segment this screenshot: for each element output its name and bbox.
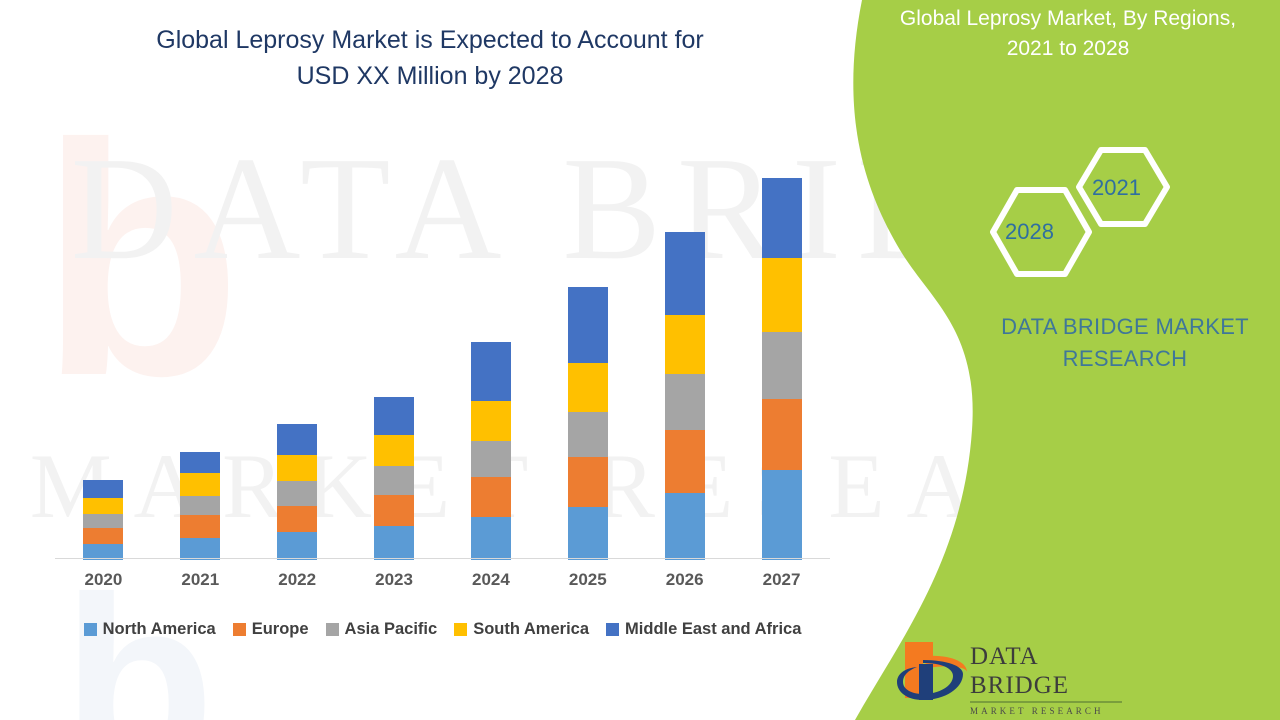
bar-segment [180, 538, 220, 560]
legend-label: North America [103, 620, 216, 639]
bar-segment [180, 496, 220, 515]
bar-column [762, 178, 802, 560]
panel-brand-line-1: DATA BRIDGE MARKET [965, 311, 1280, 343]
bar-segment [471, 477, 511, 517]
bar-segment [180, 473, 220, 495]
chart-title-line-2: USD XX Million by 2028 [80, 58, 780, 94]
legend-item[interactable]: North America [84, 620, 216, 639]
bar-segment [83, 528, 123, 543]
panel-brand-line-2: RESEARCH [965, 343, 1280, 375]
hexagon-2021-label: 2021 [1092, 175, 1141, 201]
bar-segment [83, 514, 123, 528]
bar-segment [471, 441, 511, 478]
bar-segment [568, 363, 608, 412]
bar-segment [374, 526, 414, 560]
bar-segment [665, 374, 705, 430]
legend-swatch-icon [454, 623, 467, 636]
bar-segment [374, 435, 414, 466]
bar-segment [665, 232, 705, 315]
bar-segment [762, 332, 802, 398]
bar-segment [568, 457, 608, 507]
legend-label: Asia Pacific [345, 620, 438, 639]
bar-segment [471, 401, 511, 441]
chart-title-line-1: Global Leprosy Market is Expected to Acc… [80, 22, 780, 58]
x-axis-label: 2026 [645, 570, 725, 590]
bar-segment [374, 495, 414, 527]
x-axis-label: 2024 [451, 570, 531, 590]
bar-segment [277, 532, 317, 560]
bar-segment [471, 517, 511, 560]
data-bridge-logo: DATA BRIDGE MARKET RESEARCH [893, 638, 1113, 708]
logo-subtitle: MARKET RESEARCH [970, 706, 1130, 716]
bar-segment [762, 258, 802, 333]
bar-segment [277, 455, 317, 482]
chart-title: Global Leprosy Market is Expected to Acc… [80, 22, 780, 94]
bar-segment [762, 470, 802, 560]
bar-segment [277, 424, 317, 455]
bar-segment [83, 498, 123, 514]
bar-segment [277, 481, 317, 506]
x-axis-label: 2025 [548, 570, 628, 590]
x-axis-label: 2023 [354, 570, 434, 590]
bar-segment [471, 342, 511, 400]
bar-segment [277, 506, 317, 533]
bar-segment [665, 493, 705, 560]
x-axis-label: 2020 [63, 570, 143, 590]
chart-plot-area [55, 100, 830, 560]
bar-column [471, 342, 511, 560]
bar-segment [180, 452, 220, 473]
bar-column [374, 397, 414, 560]
x-axis-label: 2021 [160, 570, 240, 590]
bar-column [180, 452, 220, 560]
x-axis-label: 2027 [742, 570, 822, 590]
bar-segment [568, 287, 608, 363]
bar-segment [180, 515, 220, 537]
legend-swatch-icon [326, 623, 339, 636]
panel-brand-text: DATA BRIDGE MARKET RESEARCH [965, 311, 1280, 375]
logo-mark-icon [893, 638, 971, 704]
bar-column [665, 232, 705, 560]
bar-segment [568, 507, 608, 560]
logo-title: DATA BRIDGE [970, 642, 1130, 700]
chart-legend: North AmericaEuropeAsia PacificSouth Ame… [55, 616, 830, 642]
legend-swatch-icon [606, 623, 619, 636]
legend-item[interactable]: Asia Pacific [326, 620, 438, 639]
hexagon-2028-label: 2028 [1005, 219, 1054, 245]
bar-segment [665, 430, 705, 492]
slide-canvas: b b DATA BRIDGE MARKET RESEARCH Global L… [0, 0, 1280, 720]
bar-column [568, 287, 608, 560]
legend-item[interactable]: Middle East and Africa [606, 620, 801, 639]
panel-title: Global Leprosy Market, By Regions, 2021 … [868, 4, 1268, 64]
logo-text-block: DATA BRIDGE MARKET RESEARCH [970, 642, 1130, 716]
panel-title-line-1: Global Leprosy Market, By Regions, [868, 4, 1268, 34]
legend-label: Middle East and Africa [625, 620, 801, 639]
hexagon-badges: 2021 2028 [975, 145, 1195, 285]
bar-column [83, 480, 123, 560]
legend-item[interactable]: Europe [233, 620, 309, 639]
chart-baseline-axis [55, 558, 830, 559]
x-axis-label: 2022 [257, 570, 337, 590]
legend-label: South America [473, 620, 589, 639]
panel-title-line-2: 2021 to 2028 [868, 34, 1268, 64]
bar-segment [762, 399, 802, 471]
bar-segment [374, 397, 414, 436]
hexagon-outlines [975, 145, 1195, 285]
chart-x-axis-labels: 20202021202220232024202520262027 [55, 566, 830, 596]
bar-segment [665, 315, 705, 374]
legend-swatch-icon [84, 623, 97, 636]
bar-segment [83, 480, 123, 497]
bar-segment [568, 412, 608, 457]
logo-divider [970, 701, 1122, 703]
bar-segment [762, 178, 802, 258]
bar-column [277, 424, 317, 560]
legend-swatch-icon [233, 623, 246, 636]
legend-item[interactable]: South America [454, 620, 589, 639]
bar-segment [374, 466, 414, 495]
legend-label: Europe [252, 620, 309, 639]
